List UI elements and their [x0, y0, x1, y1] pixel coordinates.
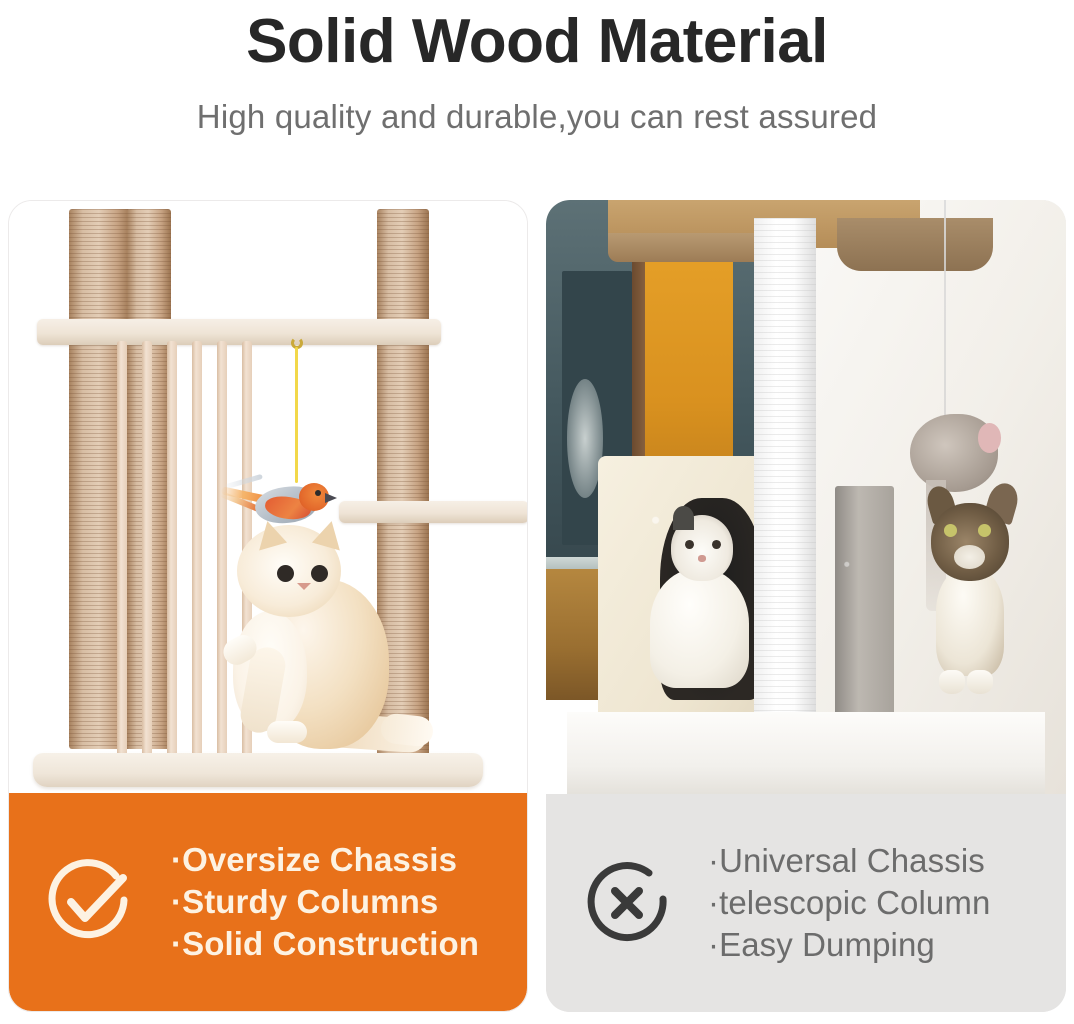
- bird-eye: [315, 490, 321, 496]
- tabby-cat-paw: [939, 670, 965, 694]
- tabby-cat-muzzle: [954, 545, 985, 569]
- cat-nose: [297, 583, 311, 590]
- cat-ear: [312, 518, 347, 551]
- header: Solid Wood Material High quality and dur…: [0, 0, 1074, 178]
- list-item: ·Easy Dumping: [708, 924, 1054, 966]
- check-circle-icon: [9, 850, 171, 954]
- feature-card-positive: ·Oversize Chassis ·Sturdy Columns ·Solid…: [8, 200, 528, 1012]
- wood-shelf-upper: [37, 319, 441, 345]
- list-item: ·telescopic Column: [708, 882, 1054, 924]
- wood-base-chassis: [33, 753, 483, 787]
- positive-bullet-list: ·Oversize Chassis ·Sturdy Columns ·Solid…: [171, 839, 527, 965]
- home-scene: [546, 200, 1066, 795]
- positive-caption-panel: ·Oversize Chassis ·Sturdy Columns ·Solid…: [9, 793, 527, 1011]
- toy-string: [295, 347, 298, 483]
- cat-studio: [221, 519, 481, 769]
- cat-eye: [311, 565, 328, 582]
- cat-in-condo-nose: [698, 555, 706, 562]
- tower-platform: [567, 712, 1045, 795]
- feature-card-negative: ·Universal Chassis ·telescopic Column ·E…: [546, 200, 1066, 1012]
- x-circle-icon: [546, 851, 708, 955]
- page-title: Solid Wood Material: [0, 6, 1074, 78]
- cat-eye: [277, 565, 294, 582]
- mouse-toy-ear: [978, 423, 1001, 453]
- product-photo-studio: [9, 201, 527, 795]
- negative-bullet-list: ·Universal Chassis ·telescopic Column ·E…: [708, 840, 1066, 966]
- list-item: ·Sturdy Columns: [171, 881, 515, 923]
- tabby-cat-chest: [936, 569, 1004, 676]
- tabby-cat-head: [931, 503, 1009, 580]
- wood-dowel: [142, 341, 152, 766]
- product-photo-home: [546, 200, 1066, 795]
- negative-caption-panel: ·Universal Chassis ·telescopic Column ·E…: [546, 794, 1066, 1012]
- cat-in-condo-body: [650, 569, 749, 688]
- tabby-cat-paw: [967, 670, 993, 694]
- page-subtitle: High quality and durable,you can rest as…: [0, 96, 1074, 138]
- carpet-post: [835, 486, 895, 748]
- cat-ear: [252, 518, 287, 551]
- wood-dowel: [167, 341, 177, 771]
- bird-feather: [225, 474, 263, 489]
- sisal-post-white: [754, 218, 816, 771]
- cat-paw: [267, 721, 307, 743]
- infographic-page: Solid Wood Material High quality and dur…: [0, 0, 1074, 1024]
- list-item: ·Oversize Chassis: [171, 839, 515, 881]
- wood-dowel: [192, 341, 202, 773]
- studio-scene: [9, 201, 527, 795]
- cat-head: [237, 525, 341, 617]
- tower-top-fur: [837, 218, 993, 272]
- mouse-toy-string: [944, 200, 946, 438]
- cat-in-condo-ear: [673, 506, 694, 530]
- tower-top-fur: [608, 233, 774, 263]
- wood-dowel: [117, 341, 127, 761]
- list-item: ·Universal Chassis: [708, 840, 1054, 882]
- list-item: ·Solid Construction: [171, 923, 515, 965]
- bird-beak: [325, 493, 337, 503]
